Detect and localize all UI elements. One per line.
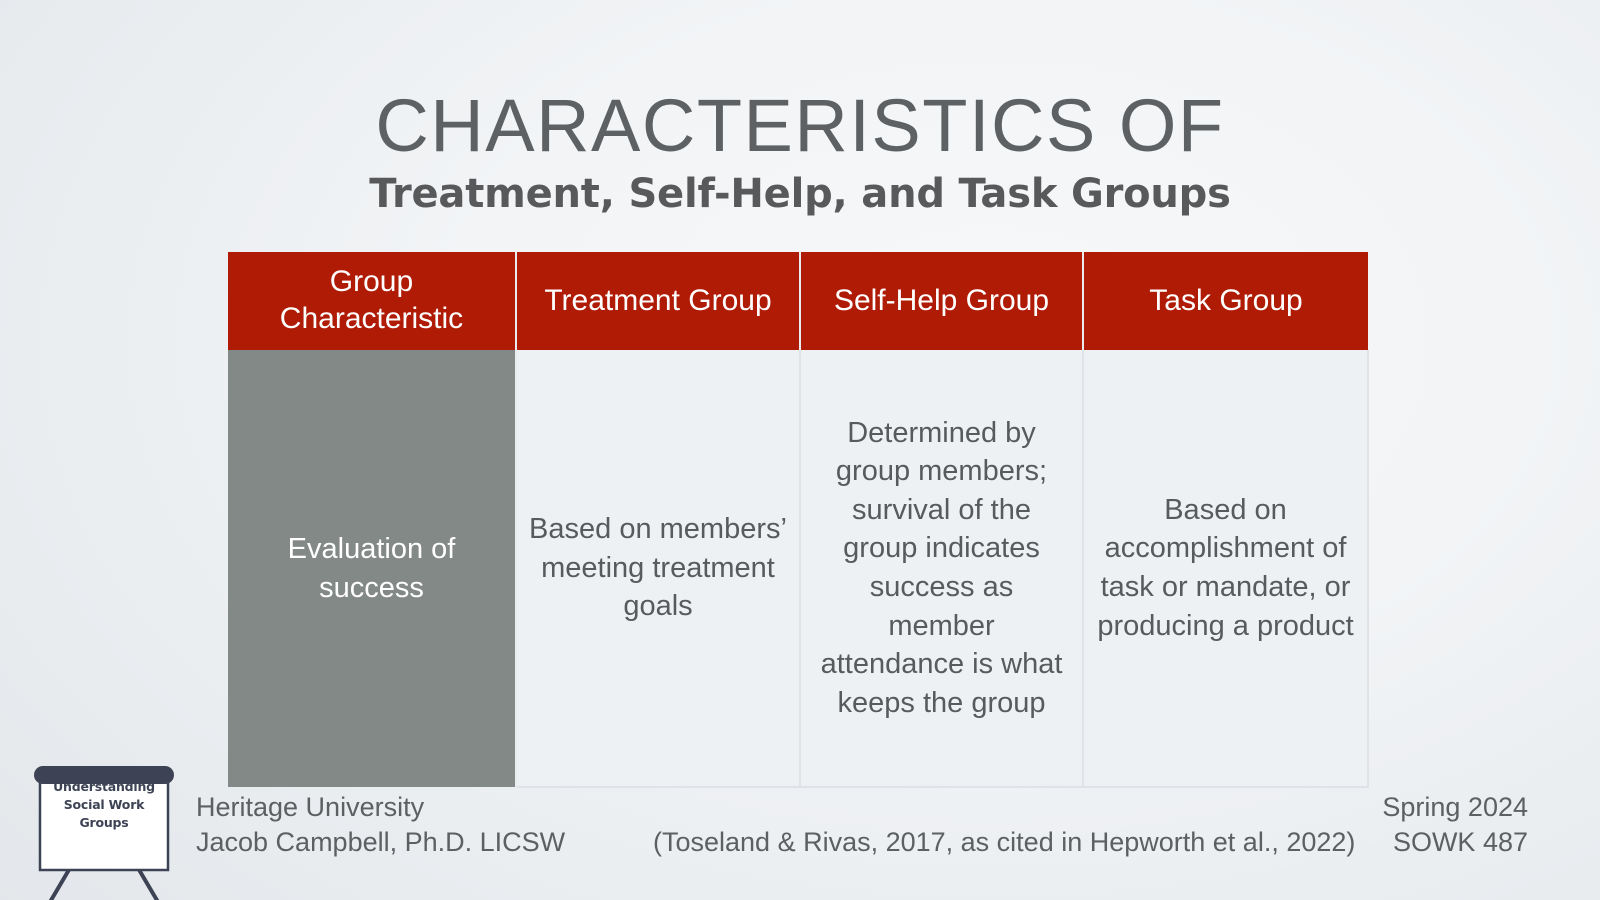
table-body: Evaluation of success Based on members’ … (228, 350, 1368, 787)
row-header-evaluation-of-success: Evaluation of success (228, 350, 516, 787)
footer-right: Spring 2024 SOWK 487 (1382, 790, 1528, 860)
cell-treatment-group: Based on members’ meeting treatment goal… (516, 350, 800, 787)
footer-term: Spring 2024 (1382, 790, 1528, 825)
logo-text-line-3: Groups (38, 814, 170, 832)
easel-logo: Understanding Social Work Groups (26, 756, 182, 900)
table: Group Characteristic Treatment Group Sel… (228, 252, 1369, 788)
column-header-group-characteristic: Group Characteristic (228, 252, 516, 350)
column-header-line-2: Characteristic (280, 302, 463, 335)
footer-presenter: Jacob Campbell, Ph.D. LICSW (196, 825, 565, 860)
column-header-task-group: Task Group (1083, 252, 1368, 350)
page-title: CHARACTERISTICS OF (0, 88, 1600, 163)
slide-canvas: CHARACTERISTICS OF Treatment, Self-Help,… (0, 0, 1600, 900)
column-header-line-1: Group (330, 265, 413, 298)
logo-text-line-2: Social Work (38, 796, 170, 814)
cell-self-help-group: Determined by group members; survival of… (800, 350, 1083, 787)
logo-text-line-1: Understanding (38, 778, 170, 796)
cell-task-group: Based on accomplishment of task or manda… (1083, 350, 1368, 787)
footer-left: Heritage University Jacob Campbell, Ph.D… (196, 790, 565, 860)
logo-text: Understanding Social Work Groups (38, 778, 170, 831)
footer-citation: (Toseland & Rivas, 2017, as cited in Hep… (653, 825, 1355, 860)
easel-leg-right (138, 868, 158, 900)
footer-institution: Heritage University (196, 790, 565, 825)
easel-leg-left (50, 868, 70, 900)
page-subtitle: Treatment, Self-Help, and Task Groups (0, 173, 1600, 215)
table-header: Group Characteristic Treatment Group Sel… (228, 252, 1368, 350)
column-header-treatment-group: Treatment Group (516, 252, 800, 350)
title-block: CHARACTERISTICS OF Treatment, Self-Help,… (0, 88, 1600, 215)
table-row: Evaluation of success Based on members’ … (228, 350, 1368, 787)
characteristics-table: Group Characteristic Treatment Group Sel… (228, 252, 1368, 788)
footer-course: SOWK 487 (1382, 825, 1528, 860)
table-header-row: Group Characteristic Treatment Group Sel… (228, 252, 1368, 350)
column-header-self-help-group: Self-Help Group (800, 252, 1083, 350)
